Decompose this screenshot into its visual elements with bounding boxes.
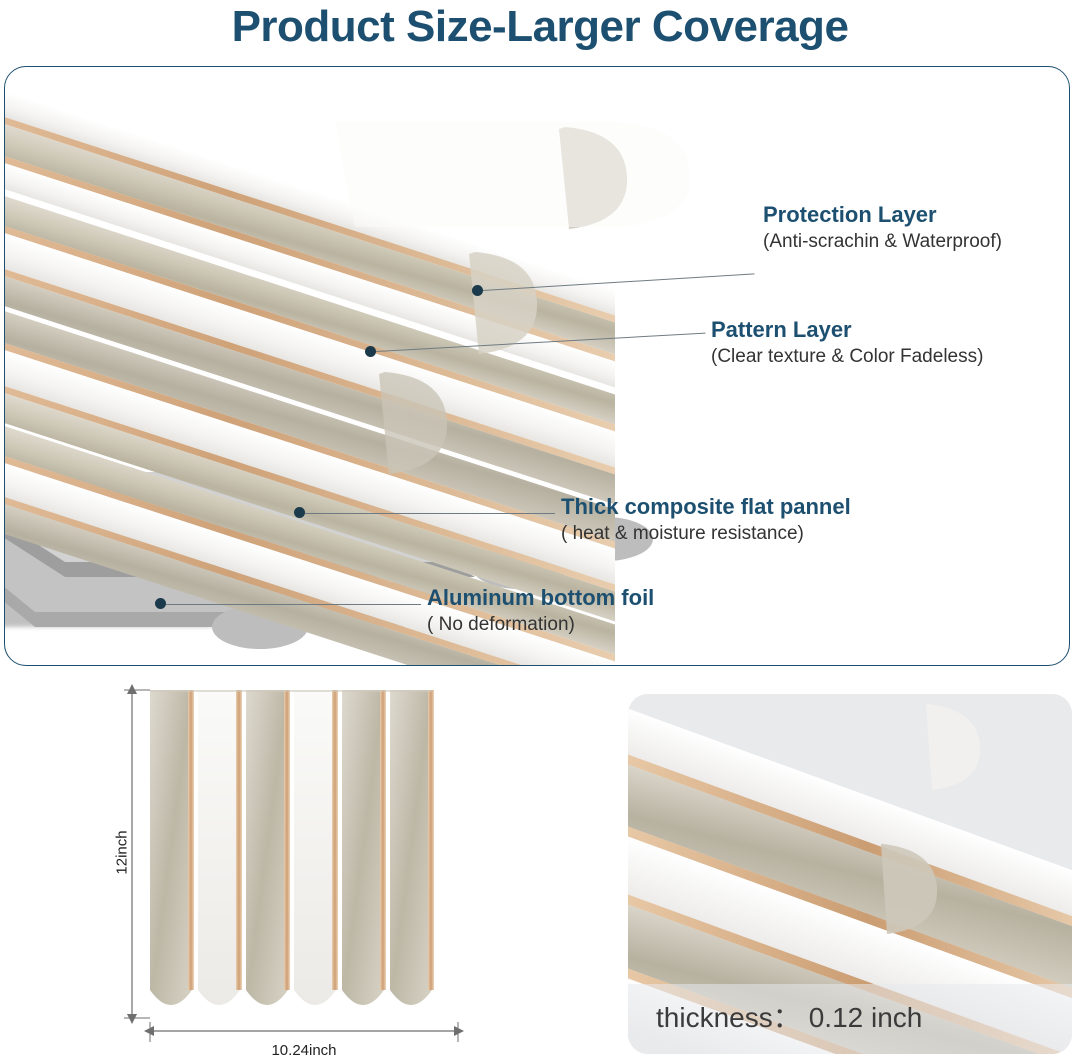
width-dimension-label: 10.24inch <box>144 1042 464 1059</box>
callout-subtitle: ( heat & moisture resistance) <box>561 523 851 545</box>
callout-composite-panel: Thick composite flat pannel ( heat & moi… <box>561 494 851 545</box>
plank-stack-illustration <box>5 67 725 666</box>
callout-title: Pattern Layer <box>711 317 983 343</box>
thickness-panel: thickness：0.12 inch <box>628 694 1072 1054</box>
main-illustration-panel: Protection Layer (Anti-scrachin & Waterp… <box>4 66 1070 666</box>
callout-title: Aluminum bottom foil <box>427 585 654 611</box>
page-title: Product Size-Larger Coverage <box>0 2 1080 52</box>
thickness-separator: ： <box>773 1002 801 1033</box>
slat-swatch-illustration <box>144 690 464 1020</box>
thickness-value: 0.12 inch <box>809 1002 923 1033</box>
callout-subtitle: ( No deformation) <box>427 614 654 636</box>
size-diagram: 12inch 10.24inch <box>4 676 594 1058</box>
callout-dot-composite-panel <box>294 507 305 518</box>
thickness-label: thickness <box>656 1002 773 1033</box>
callout-title: Protection Layer <box>763 202 1002 228</box>
callout-dot-pattern-layer <box>365 346 376 357</box>
callout-leader-aluminum-foil <box>166 604 421 605</box>
callout-leader-composite-panel <box>305 513 555 514</box>
callout-dot-protection-layer <box>472 285 483 296</box>
callout-pattern-layer: Pattern Layer (Clear texture & Color Fad… <box>711 317 983 368</box>
callout-protection-layer: Protection Layer (Anti-scrachin & Waterp… <box>763 202 1002 253</box>
height-dimension-label: 12inch <box>114 823 131 883</box>
thickness-readout: thickness：0.12 inch <box>656 996 922 1036</box>
callout-dot-aluminum-foil <box>155 598 166 609</box>
callout-aluminum-foil: Aluminum bottom foil ( No deformation) <box>427 585 654 636</box>
callout-subtitle: (Clear texture & Color Fadeless) <box>711 346 983 368</box>
callout-subtitle: (Anti-scrachin & Waterproof) <box>763 231 1002 253</box>
callout-title: Thick composite flat pannel <box>561 494 851 520</box>
